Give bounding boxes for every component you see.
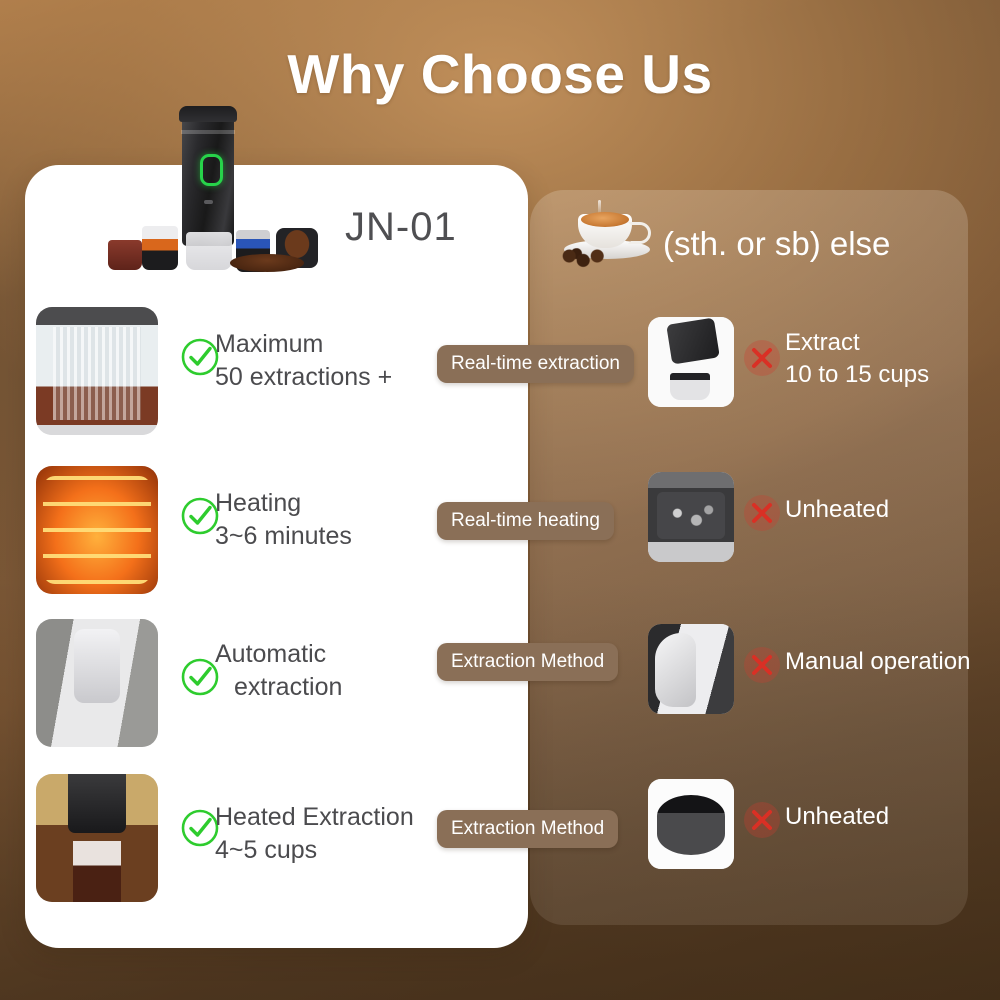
comparison-row: Heated Extraction 4~5 cups Extraction Me… [0,770,1000,920]
product-name-label: JN-01 [345,205,457,250]
cup-handle [628,222,651,244]
feature-pill: Real-time heating [437,502,614,540]
coffee-grounds-pile [230,254,304,272]
competitor-heading: (sth. or sb) else [663,225,890,263]
feature-pill: Real-time extraction [437,345,634,383]
infographic-canvas: Why Choose Us JN-01 (sth. or sb) else [0,0,1000,1000]
con-line-1: Manual operation [785,646,970,678]
con-thumbnail [648,779,734,869]
page-title: Why Choose Us [0,42,1000,106]
cross-circle-icon [742,493,782,533]
pro-line-2: 3~6 minutes [215,520,352,553]
con-line-1: Unheated [785,494,889,526]
cross-circle-icon [742,800,782,840]
pro-line-2: 4~5 cups [215,834,414,867]
pro-thumbnail [36,619,158,747]
machine-button-icon [204,200,213,204]
con-line-1: Unheated [785,801,889,833]
check-circle-icon [180,808,220,848]
check-circle-icon [180,657,220,697]
cross-circle-icon [742,338,782,378]
competitor-hero-image [556,200,666,268]
espresso-machine-cap [179,106,237,122]
pro-line-2: 50 extractions + [215,361,392,394]
machine-display-icon [200,154,223,186]
pro-line-1: Automatic [215,638,342,671]
pro-thumbnail [36,466,158,594]
con-line-2: 10 to 15 cups [785,359,929,391]
comparison-row: Heating 3~6 minutes Real-time heating Un… [0,462,1000,612]
pro-line-1: Heated Extraction [215,801,414,834]
capsule-red [108,240,142,270]
product-hero-image [90,104,340,274]
feature-pill: Extraction Method [437,810,618,848]
pro-line-1: Maximum [215,328,392,361]
cross-circle-icon [742,645,782,685]
latte-art [581,212,629,227]
machine-water-cup [186,232,232,270]
pro-thumbnail [36,307,158,435]
machine-ring [181,130,235,134]
comparison-row: Maximum 50 extractions + Real-time extra… [0,303,1000,453]
con-thumbnail [648,472,734,562]
con-thumbnail [648,317,734,407]
pro-line-2: extraction [215,671,342,704]
con-line-1: Extract [785,327,929,359]
check-circle-icon [180,337,220,377]
comparison-row: Automatic extraction Extraction Method M… [0,615,1000,765]
feature-pill: Extraction Method [437,643,618,681]
coffee-beans [558,248,614,268]
capsule-orange [142,226,178,270]
check-circle-icon [180,496,220,536]
pro-thumbnail [36,774,158,902]
con-thumbnail [648,624,734,714]
pro-line-1: Heating [215,487,352,520]
